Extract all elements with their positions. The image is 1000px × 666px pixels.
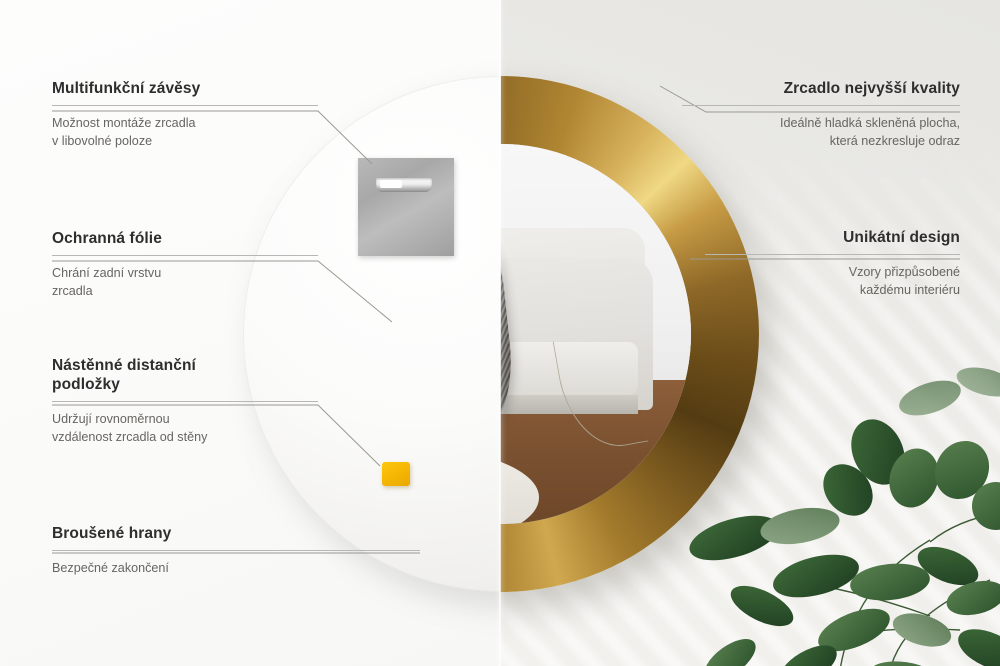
hanger-bracket-plate: [358, 158, 454, 256]
callout-body: Chrání zadní vrstvu zrcadla: [52, 265, 318, 300]
foliage-plant: [690, 330, 1000, 666]
callout-rule: [52, 255, 318, 256]
callout-title: Unikátní design: [705, 228, 960, 247]
panel-split-divider: [499, 0, 501, 666]
mirror-glass-surface: [500, 144, 691, 524]
callout-body: Vzory přizpůsobené každému interiéru: [705, 264, 960, 299]
callout-title: Broušené hrany: [52, 524, 420, 543]
callout-rule: [682, 105, 960, 106]
callout-body: Bezpečné zakončení: [52, 560, 420, 578]
callout-brousene-hrany: Broušené hrany Bezpečné zakončení: [52, 524, 420, 578]
callout-body: Možnost montáže zrcadla v libovolné polo…: [52, 115, 318, 150]
callout-nastenne-distancni-podlozky: Nástěnné distanční podložky Udržují rovn…: [52, 356, 318, 446]
foliage-leaves: [685, 362, 1000, 666]
mirror-back-disc: [243, 76, 500, 592]
callout-rule: [52, 550, 420, 551]
callout-title: Zrcadlo nejvyšší kvality: [682, 79, 960, 98]
callout-title: Nástěnné distanční podložky: [52, 356, 318, 394]
callout-body: Udržují rovnoměrnou vzdálenost zrcadla o…: [52, 411, 318, 446]
infographic-canvas: Multifunkční závěsy Možnost montáže zrca…: [0, 0, 1000, 666]
callout-title: Ochranná fólie: [52, 229, 318, 248]
callout-unikatni-design: Unikátní design Vzory přizpůsobené každé…: [705, 228, 960, 299]
callout-title: Multifunkční závěsy: [52, 79, 318, 98]
callout-rule: [52, 105, 318, 106]
callout-rule: [52, 401, 318, 402]
callout-zrcadlo-nejvyssi-kvality: Zrcadlo nejvyšší kvality Ideálně hladká …: [682, 79, 960, 150]
callout-ochranna-folie: Ochranná fólie Chrání zadní vrstvu zrcad…: [52, 229, 318, 300]
callout-rule: [705, 254, 960, 255]
hanger-keyhole-slot: [376, 178, 432, 192]
wall-spacer-pad: [382, 462, 410, 486]
callout-body: Ideálně hladká skleněná plocha, která ne…: [682, 115, 960, 150]
callout-multifunkcni-zavesy: Multifunkční závěsy Možnost montáže zrca…: [52, 79, 318, 150]
